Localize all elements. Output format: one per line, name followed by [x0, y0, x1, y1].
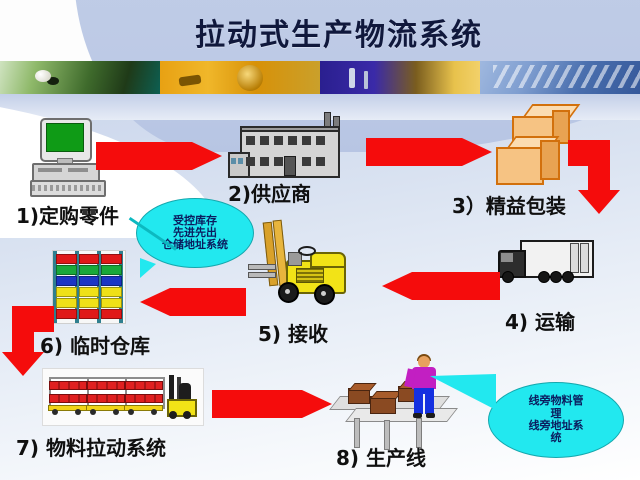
- arrow-head: [462, 138, 492, 166]
- material-cart: [87, 377, 123, 413]
- callout-line: 统: [529, 432, 584, 444]
- page-title: 拉动式生产物流系统: [0, 10, 640, 54]
- drive-slot: [38, 168, 62, 172]
- drive-slot-2: [68, 168, 88, 172]
- truck-wheel: [550, 271, 562, 283]
- tow-tractor-icon: [165, 375, 195, 417]
- forklift-fork-upper: [248, 264, 276, 270]
- forklift-fork-lower: [248, 272, 276, 278]
- box-lower-face: [496, 147, 544, 185]
- bin: [79, 309, 100, 319]
- factory-window: [302, 136, 311, 145]
- factory-window: [274, 157, 283, 166]
- bin: [79, 265, 100, 275]
- box-top: [348, 383, 377, 391]
- factory-window: [316, 157, 325, 166]
- cart-wheel: [128, 409, 134, 415]
- tug-wheel: [183, 411, 191, 419]
- material-carts-icon: [42, 368, 204, 426]
- factory-door: [284, 156, 296, 176]
- cart-wheel: [52, 409, 58, 415]
- rack-row-green: [56, 265, 122, 273]
- rack-row-yellow-2: [56, 298, 122, 306]
- conveyor-box: [348, 388, 370, 404]
- bin: [56, 254, 77, 264]
- annex-window: [231, 158, 236, 164]
- semi-truck-icon: [498, 240, 596, 286]
- cart-wheel: [75, 409, 81, 415]
- arrow-transport-to-receiving: [382, 272, 500, 300]
- callout-warehouse-tail-left: [140, 258, 156, 278]
- cart-bins-top: [87, 381, 125, 390]
- material-cart: [49, 377, 85, 413]
- factory-window: [260, 136, 269, 145]
- cart-bins-top: [49, 381, 87, 390]
- step-label-4: 4) 运输: [505, 306, 575, 335]
- annex-window: [238, 158, 243, 164]
- box-lower-side: [540, 140, 560, 180]
- forklift-grill: [296, 268, 324, 283]
- bin: [79, 254, 100, 264]
- arrow-head-down: [2, 352, 44, 376]
- step-label-8: 8) 生产线: [336, 442, 426, 471]
- step-label-1: 1)定购零件: [16, 200, 119, 229]
- factory-window: [246, 136, 255, 145]
- arrow-shaft: [170, 288, 246, 316]
- factory-window: [302, 157, 311, 166]
- bin: [56, 276, 77, 286]
- arrow-shaft: [212, 390, 302, 418]
- arrow-shaft: [366, 138, 462, 166]
- bin: [101, 298, 122, 308]
- callout-lineside-tail: [430, 374, 496, 410]
- arrow-supplier-to-packaging: [366, 138, 494, 166]
- cart-bins-bottom: [87, 394, 125, 403]
- callout-lineside: 线旁物料管 理 线旁地址系 统: [488, 382, 624, 458]
- arrow-receiving-to-warehouse: [140, 288, 246, 316]
- cart-wheel: [90, 409, 96, 415]
- arrow-elbow-vertical: [588, 140, 610, 192]
- conveyor-box: [370, 396, 396, 414]
- forklift-wheel-rear: [314, 284, 335, 305]
- arrow-head: [382, 272, 412, 300]
- tug-wheel: [169, 411, 177, 419]
- rack-row-red: [56, 254, 122, 262]
- step-label-3: 3）精益包装: [452, 190, 566, 219]
- worker-shoe: [413, 413, 422, 418]
- forklift-wheel-front: [278, 282, 299, 303]
- bin: [56, 265, 77, 275]
- keyboard-icon: [30, 180, 106, 197]
- slide-canvas: 拉动式生产物流系统 1)定购零件: [0, 0, 640, 480]
- arrow-order-to-supplier: [96, 142, 222, 170]
- trailer-door-left: [570, 243, 579, 273]
- step-label-5: 5) 接收: [258, 318, 328, 347]
- bin: [56, 287, 77, 297]
- photo-blue-assembly: [320, 61, 480, 94]
- arrow-shaft: [412, 272, 500, 300]
- bin: [101, 309, 122, 319]
- banner-photo-strip: [0, 61, 640, 94]
- desktop-computer-icon: [30, 118, 102, 194]
- cart-bins-bottom: [49, 394, 87, 403]
- rack-row-blue: [56, 276, 122, 284]
- forklift-steering-wheel: [298, 246, 316, 256]
- step-label-2: 2)供应商: [228, 178, 311, 207]
- bin: [101, 287, 122, 297]
- arrow-packaging-to-transport: [568, 140, 628, 232]
- photo-green-machinery: [0, 61, 160, 94]
- forklift-icon: [252, 238, 348, 312]
- arrow-shaft: [96, 142, 192, 170]
- bin: [101, 265, 122, 275]
- factory-window: [260, 157, 269, 166]
- factory-window: [246, 157, 255, 166]
- factory-window: [288, 136, 297, 145]
- bin: [79, 287, 100, 297]
- factory-window: [316, 136, 325, 145]
- cab-window: [501, 253, 513, 262]
- material-cart: [125, 377, 161, 413]
- arrow-pull-to-line: [212, 390, 332, 418]
- step-label-7: 7) 物料拉动系统: [16, 432, 166, 461]
- cart-wheel: [151, 409, 157, 415]
- bin: [101, 254, 122, 264]
- truck-wheel: [538, 271, 550, 283]
- cart-bins-top: [125, 381, 163, 390]
- arrow-head: [302, 390, 332, 418]
- callout-lineside-text: 线旁物料管 理 线旁地址系 统: [529, 395, 584, 444]
- factory-icon: [228, 112, 344, 178]
- truck-wheel: [562, 271, 574, 283]
- photo-gold-gears: [160, 61, 320, 94]
- monitor-screen: [46, 123, 84, 152]
- arrow-head-down: [578, 190, 620, 214]
- cart-bins-bottom: [125, 394, 163, 403]
- rack-row-yellow: [56, 287, 122, 295]
- trailer-door-right: [580, 243, 589, 273]
- callout-line: 线旁物料管: [529, 395, 584, 407]
- truck-wheel: [502, 271, 514, 283]
- bin: [79, 298, 100, 308]
- bin: [101, 276, 122, 286]
- arrow-head: [192, 142, 222, 170]
- arrow-head: [140, 288, 170, 316]
- arrow-elbow-vertical: [12, 306, 34, 354]
- cart-wheel: [113, 409, 119, 415]
- bin: [79, 276, 100, 286]
- worker-shoe: [426, 413, 435, 418]
- callout-line: 受控库存: [162, 215, 228, 227]
- factory-window: [274, 136, 283, 145]
- forklift-hood: [310, 252, 346, 268]
- photo-keyboard: [480, 61, 640, 94]
- worker-leg-split: [423, 394, 425, 414]
